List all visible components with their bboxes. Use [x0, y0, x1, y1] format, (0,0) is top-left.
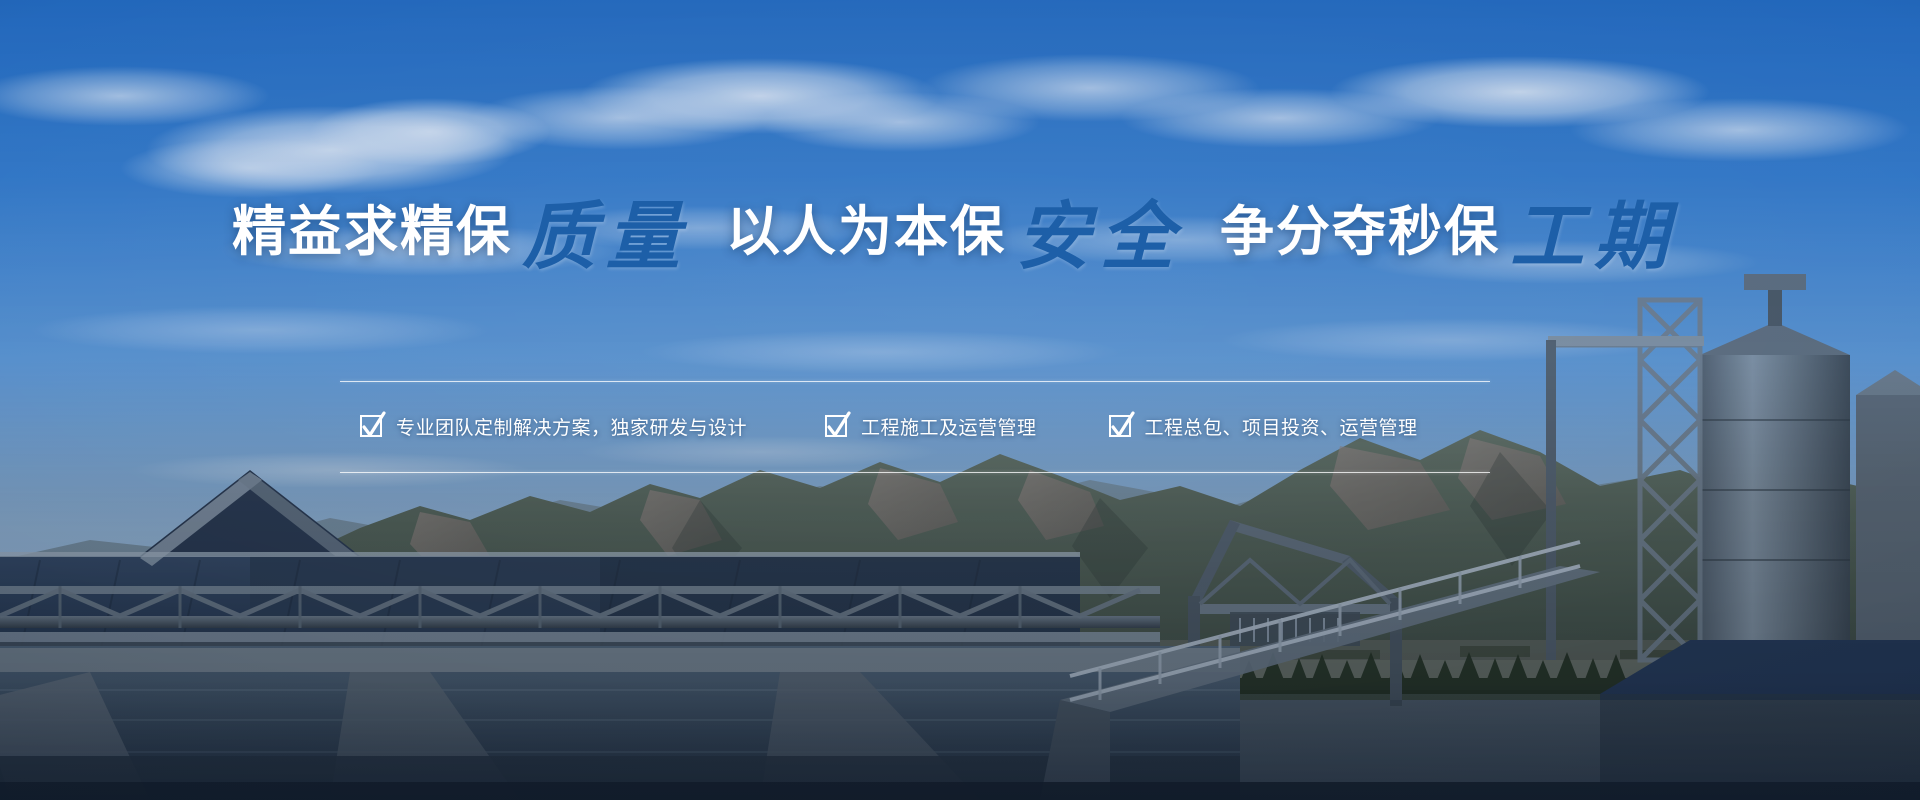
headline-segment-3: 以人为本保	[726, 202, 1006, 262]
feature-label-0: 专业团队定制解决方案，独家研发与设计	[396, 413, 747, 440]
feature-list: 专业团队定制解决方案，独家研发与设计 工程施工及运营管理 工程总包、项目投资、运…	[340, 395, 1490, 457]
feature-label-1: 工程施工及运营管理	[861, 413, 1037, 440]
feature-item-0: 专业团队定制解决方案，独家研发与设计	[360, 413, 747, 440]
feature-label-2: 工程总包、项目投资、运营管理	[1145, 413, 1418, 440]
feature-item-1: 工程施工及运营管理	[825, 413, 1037, 440]
checkbox-checked-icon	[1109, 415, 1131, 437]
headline-segment-5: 争分夺秒保	[1220, 202, 1500, 262]
headline-segment-2-brush: 质量	[512, 194, 700, 280]
checkbox-checked-icon	[825, 415, 847, 437]
headline-segment-4-brush: 安全	[1006, 194, 1194, 280]
feature-item-2: 工程总包、项目投资、运营管理	[1109, 413, 1418, 440]
hero-banner: 精益求精保质量以人为本保安全争分夺秒保工期 专业团队定制解决方案，独家研发与设计…	[0, 0, 1920, 800]
headline-segment-6-brush: 工期	[1500, 194, 1688, 280]
divider-top	[340, 381, 1490, 382]
headline: 精益求精保质量以人为本保安全争分夺秒保工期	[0, 200, 1920, 274]
headline-segment-1: 精益求精保	[232, 202, 512, 262]
divider-bottom	[340, 472, 1490, 473]
checkbox-checked-icon	[360, 415, 382, 437]
